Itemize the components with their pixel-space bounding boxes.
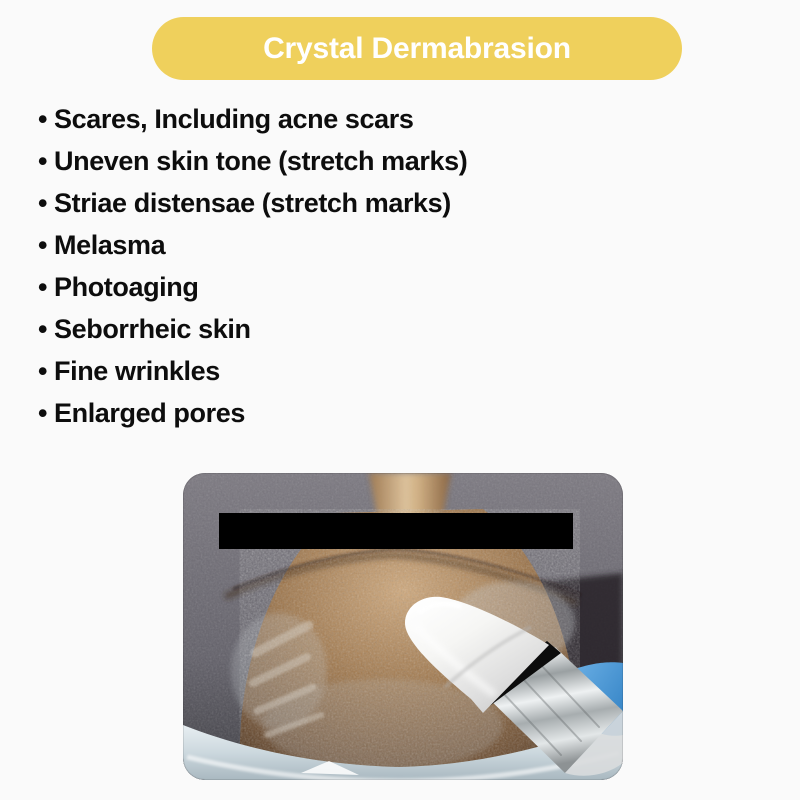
bullet-dot-icon: •	[38, 316, 54, 343]
bullet-dot-icon: •	[38, 148, 54, 175]
list-item: • Melasma	[38, 230, 738, 272]
page-title: Crystal Dermabrasion	[263, 34, 571, 64]
bullet-dot-icon: •	[38, 106, 54, 133]
list-item-label: Photoaging	[54, 272, 198, 303]
list-item-label: Striae distensae (stretch marks)	[54, 188, 451, 219]
privacy-bar	[219, 513, 573, 549]
list-item: • Uneven skin tone (stretch marks)	[38, 146, 738, 188]
clinical-photo	[183, 473, 623, 780]
list-item-label: Scares, Including acne scars	[54, 104, 413, 135]
indications-list: • Scares, Including acne scars • Uneven …	[38, 104, 738, 440]
list-item-label: Melasma	[54, 230, 165, 261]
list-item: • Striae distensae (stretch marks)	[38, 188, 738, 230]
bullet-dot-icon: •	[38, 274, 54, 301]
bullet-dot-icon: •	[38, 232, 54, 259]
list-item: • Enlarged pores	[38, 398, 738, 440]
list-item-label: Fine wrinkles	[54, 356, 220, 387]
list-item: • Photoaging	[38, 272, 738, 314]
list-item-label: Seborrheic skin	[54, 314, 251, 345]
bullet-dot-icon: •	[38, 358, 54, 385]
page-title-pill: Crystal Dermabrasion	[152, 17, 682, 80]
list-item: • Scares, Including acne scars	[38, 104, 738, 146]
list-item-label: Uneven skin tone (stretch marks)	[54, 146, 467, 177]
bullet-dot-icon: •	[38, 400, 54, 427]
list-item: • Fine wrinkles	[38, 356, 738, 398]
list-item: • Seborrheic skin	[38, 314, 738, 356]
list-item-label: Enlarged pores	[54, 398, 245, 429]
bullet-dot-icon: •	[38, 190, 54, 217]
clinical-photo-illustration	[183, 473, 623, 780]
